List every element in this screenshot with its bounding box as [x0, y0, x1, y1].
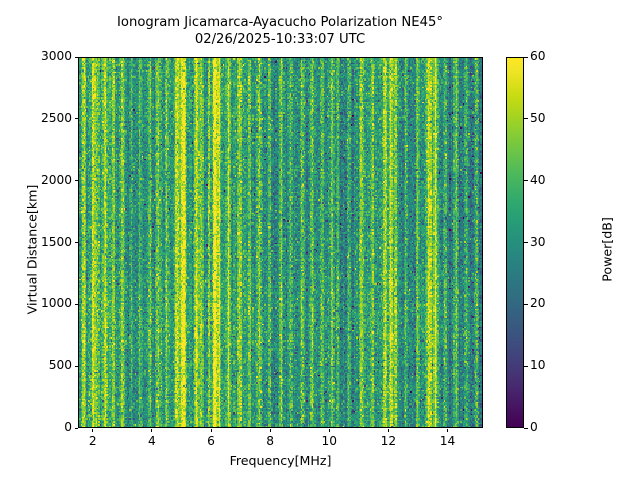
colorbar-tick-mark	[524, 428, 528, 429]
colorbar-tick-label: 10	[530, 358, 546, 372]
y-tick-mark	[75, 57, 79, 58]
colorbar-gradient	[507, 58, 523, 427]
title-line-1: Ionogram Jicamarca-Ayacucho Polarization…	[0, 14, 560, 31]
colorbar-tick-label: 20	[530, 296, 546, 310]
x-tick-mark	[447, 429, 448, 433]
y-tick-mark	[75, 180, 79, 181]
y-tick-label: 0	[0, 420, 72, 434]
plot-area	[78, 57, 483, 428]
y-tick-mark	[75, 366, 79, 367]
x-tick-mark	[211, 429, 212, 433]
y-tick-mark	[75, 304, 79, 305]
x-tick-mark	[270, 429, 271, 433]
y-tick-label: 3000	[0, 49, 72, 63]
y-axis-title: Virtual Distance[km]	[25, 140, 40, 360]
colorbar	[506, 57, 524, 428]
x-axis-title: Frequency[MHz]	[78, 453, 483, 468]
colorbar-tick-mark	[524, 304, 528, 305]
colorbar-tick-label: 0	[530, 420, 538, 434]
colorbar-tick-mark	[524, 180, 528, 181]
x-tick-label: 12	[368, 434, 408, 448]
x-tick-label: 8	[250, 434, 290, 448]
x-tick-mark	[388, 429, 389, 433]
y-tick-mark	[75, 242, 79, 243]
x-tick-label: 2	[73, 434, 113, 448]
y-tick-label: 2500	[0, 111, 72, 125]
y-tick-mark	[75, 428, 79, 429]
title-line-2: 02/26/2025-10:33:07 UTC	[0, 31, 560, 48]
colorbar-tick-label: 30	[530, 235, 546, 249]
colorbar-tick-label: 40	[530, 173, 546, 187]
colorbar-title: Power[dB]	[600, 140, 615, 360]
x-tick-mark	[92, 429, 93, 433]
x-tick-label: 4	[132, 434, 172, 448]
ionogram-heatmap	[79, 58, 483, 428]
y-tick-mark	[75, 118, 79, 119]
x-tick-label: 14	[428, 434, 468, 448]
colorbar-tick-mark	[524, 57, 528, 58]
ionogram-figure: Ionogram Jicamarca-Ayacucho Polarization…	[0, 0, 640, 480]
page-title: Ionogram Jicamarca-Ayacucho Polarization…	[0, 14, 560, 48]
colorbar-tick-mark	[524, 242, 528, 243]
x-tick-label: 6	[191, 434, 231, 448]
x-tick-label: 10	[309, 434, 349, 448]
x-tick-mark	[151, 429, 152, 433]
colorbar-tick-label: 50	[530, 111, 546, 125]
colorbar-tick-label: 60	[530, 49, 546, 63]
y-tick-label: 500	[0, 358, 72, 372]
x-tick-mark	[329, 429, 330, 433]
colorbar-tick-mark	[524, 118, 528, 119]
colorbar-tick-mark	[524, 366, 528, 367]
